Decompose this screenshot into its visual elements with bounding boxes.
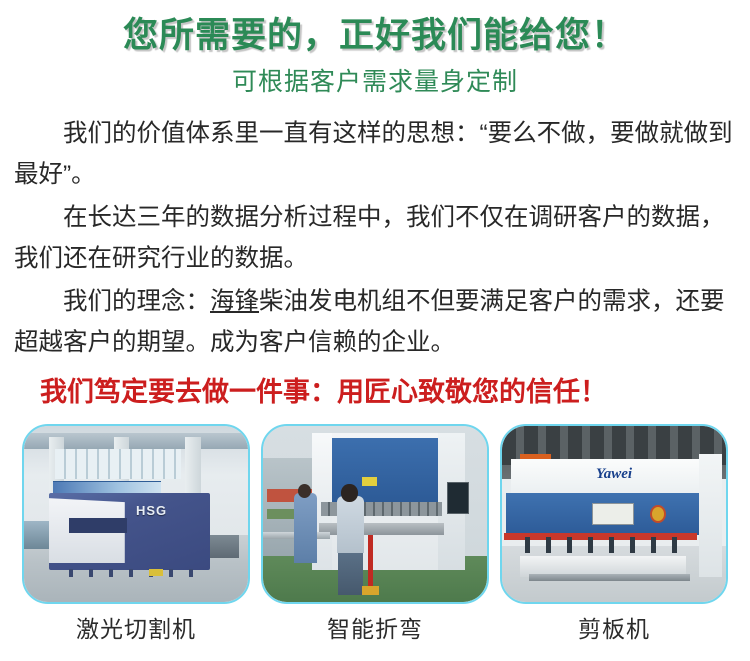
support-stand [368,535,372,588]
paragraph-philosophy: 我们的理念：海锋柴油发电机组不但要满足客户的需求，还要超越客户的期望。成为客户信… [14,281,736,363]
philosophy-prefix: 我们的理念： [63,288,210,315]
page-subheadline: 可根据客户需求量身定制 [0,58,750,97]
caption-shearing: 剪板机 [500,612,728,646]
photo-laser-cutting-machine: HSG [24,426,248,602]
photo-card-press-brake [261,424,489,604]
machine-nameplate [592,503,634,524]
photo-card-laser-cutter: HSG [22,424,250,604]
warning-label [362,477,378,486]
hold-down-clamps [509,537,693,553]
photo-captions: 激光切割机 智能折弯 剪板机 [0,612,750,646]
photo-card-shearing-machine: Yawei [500,424,728,604]
floor-marker [149,569,162,576]
photo-plate-shear: Yawei [502,426,726,602]
side-equipment [24,521,51,549]
worker-head [341,484,358,502]
support-stand-base [362,586,380,595]
paragraph-data-analysis: 在长达三年的数据分析过程中，我们不仅在调研客户的数据，我们还在研究行业的数据。 [14,197,736,279]
worker-legs [338,549,363,595]
yawei-logo: Yawei [596,466,632,483]
worker-figure [294,493,316,563]
worker-figure [337,496,364,552]
control-panel [447,482,469,514]
emphasis-statement: 我们笃定要去做一件事：用匠心致敬您的信任！ [14,372,736,412]
shear-side-column [699,454,721,577]
machine-legs [53,569,201,578]
caption-laser-cutter: 激光切割机 [22,612,250,646]
caption-bending: 智能折弯 [261,612,489,646]
machine-access-door [69,518,127,534]
body-copy: 我们的价值体系里一直有这样的思想：“要么不做，要做就做到最好”。 在长达三年的数… [0,97,750,412]
window-row [55,449,180,479]
paragraph-values: 我们的价值体系里一直有这样的思想：“要么不做，要做就做到最好”。 [14,113,736,195]
page-headline: 您所需要的，正好我们能给您！ [0,0,750,58]
photo-gallery: HSG [0,424,750,610]
front-support-bar [529,574,690,581]
hsg-logo: HSG [136,503,167,518]
photo-bending-machine [263,426,487,602]
promo-page: 您所需要的，正好我们能给您！ 可根据客户需求量身定制 我们的价值体系里一直有这样… [0,0,750,661]
brand-name: 海锋 [210,288,259,315]
